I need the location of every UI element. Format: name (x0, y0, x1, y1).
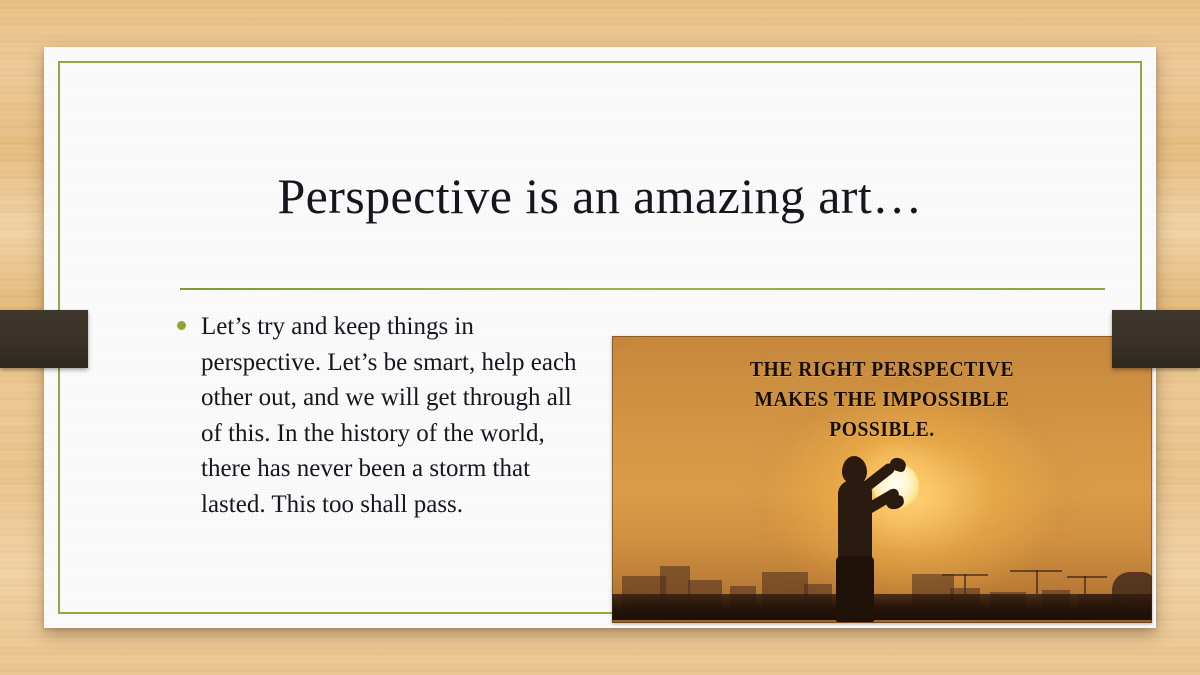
bullet-dot-icon (177, 321, 186, 330)
bullet-text: Let’s try and keep things in perspective… (201, 309, 597, 522)
photo-caption: THE RIGHT PERSPECTIVE MAKES THE IMPOSSIB… (631, 354, 1133, 444)
photo-caption-line-3: POSSIBLE. (631, 414, 1133, 444)
body-content: Let’s try and keep things in perspective… (177, 309, 597, 522)
right-edge-tab (1112, 310, 1200, 368)
photo-caption-line-1: THE RIGHT PERSPECTIVE (631, 354, 1133, 384)
list-item: Let’s try and keep things in perspective… (177, 309, 597, 522)
page-title: Perspective is an amazing art… (134, 167, 1066, 225)
left-edge-tab (0, 310, 88, 368)
title-divider-rule (180, 288, 1105, 290)
slide-card: Perspective is an amazing art… Let’s try… (44, 47, 1156, 628)
slide-stage: Perspective is an amazing art… Let’s try… (0, 0, 1200, 675)
perspective-photo: THE RIGHT PERSPECTIVE MAKES THE IMPOSSIB… (612, 336, 1152, 623)
photo-caption-line-2: MAKES THE IMPOSSIBLE (631, 384, 1133, 414)
